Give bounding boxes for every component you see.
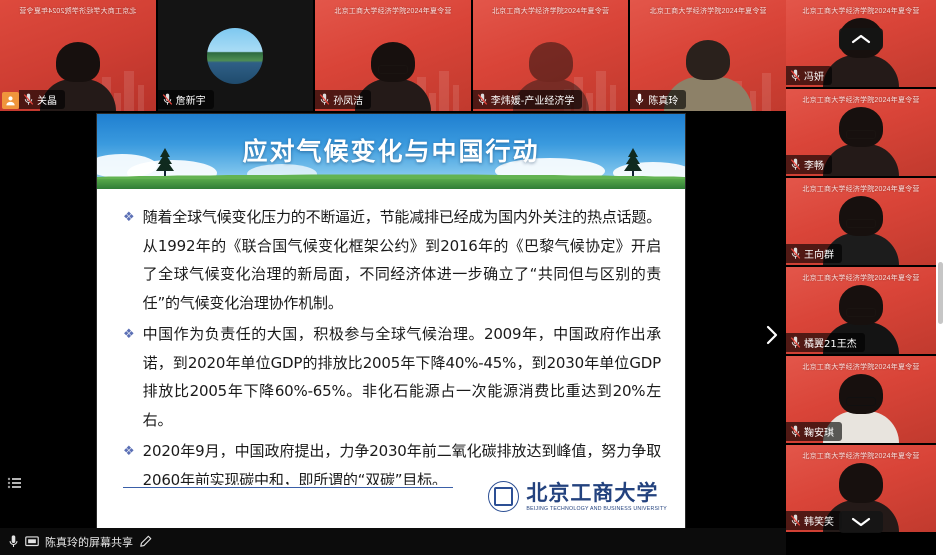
tile-banner-text: 北京工商大学经济学院2024年夏令营	[786, 451, 936, 461]
tile-banner-text: 北京工商大学经济学院2024年夏令营	[786, 184, 936, 194]
shared-screen-slide[interactable]: 应对气候变化与中国行动 ❖ 随着全球气候变化压力的不断逼近，节能减排已经成为国内…	[96, 113, 686, 532]
mic-icon	[634, 93, 645, 106]
participant-tile-0[interactable]: 北京工商大学经济学院2024年夏令营 关晶	[0, 0, 156, 111]
scroll-up-button[interactable]	[839, 28, 883, 50]
microphone-icon[interactable]	[8, 534, 19, 549]
screen-share-icon[interactable]	[25, 536, 39, 548]
tile-banner-text: 北京工商大学经济学院2024年夏令营	[630, 6, 786, 16]
participant-name-chip-4: 陈真玲	[630, 90, 686, 109]
participant-name-chip: 橘翼21王杰	[786, 333, 865, 352]
sidebar-participant-2[interactable]: 北京工商大学经济学院2024年夏令营 王向群	[786, 178, 936, 265]
pencil-annotate-icon[interactable]	[139, 535, 152, 548]
participant-silhouette	[823, 110, 899, 176]
participants-list-button[interactable]	[4, 472, 26, 494]
screen-share-status-bar: 陈真玲的屏幕共享	[0, 528, 786, 555]
participant-name-chip: 冯妍	[786, 66, 832, 85]
sidebar-participant-1[interactable]: 北京工商大学经济学院2024年夏令营 李畅	[786, 89, 936, 176]
tile-banner-text: 北京工商大学经济学院2024年夏令营	[0, 6, 156, 16]
footer-divider	[123, 487, 453, 488]
mic-muted-icon	[790, 247, 801, 260]
bullet-marker-icon: ❖	[123, 320, 135, 434]
participant-name: 王向群	[804, 246, 834, 261]
tile-banner-text: 北京工商大学经济学院2024年夏令营	[786, 6, 936, 16]
bullet-marker-icon: ❖	[123, 203, 135, 317]
tile-banner-text: 北京工商大学经济学院2024年夏令营	[786, 273, 936, 283]
host-badge	[2, 92, 19, 109]
mic-muted-icon	[319, 93, 330, 106]
participant-name: 关晶	[37, 92, 57, 107]
slide-footer: 北京工商大学 BEIJING TECHNOLOGY AND BUSINESS U…	[97, 485, 685, 531]
slide-bullet-0: ❖ 随着全球气候变化压力的不断逼近，节能减排已经成为国内外关注的热点话题。从19…	[123, 203, 661, 317]
participants-sidebar[interactable]: 北京工商大学经济学院2024年夏令营 冯妍 北京工商大学经济学院2024年夏令营…	[786, 0, 936, 555]
chevron-up-icon	[851, 33, 871, 45]
participant-name: 李畅	[804, 157, 824, 172]
chevron-down-icon	[851, 516, 871, 528]
slide-body: ❖ 随着全球气候变化压力的不断逼近，节能减排已经成为国内外关注的热点话题。从19…	[97, 189, 685, 485]
participant-thumbnail-strip: 北京工商大学经济学院2024年夏令营 关晶 詹新宇	[0, 0, 786, 111]
participant-name-chip: 李畅	[786, 155, 832, 174]
tile-banner-text: 北京工商大学经济学院2024年夏令营	[786, 362, 936, 372]
sidebar-scrollbar-track[interactable]	[936, 0, 944, 555]
mic-muted-icon	[162, 93, 173, 106]
bullet-text: 中国作为负责任的大国，积极参与全球气候治理。2009年，中国政府作出承诺，到20…	[143, 320, 661, 434]
avatar	[207, 28, 263, 84]
participant-name: 橘翼21王杰	[804, 335, 857, 350]
slide-bullet-1: ❖ 中国作为负责任的大国，积极参与全球气候治理。2009年，中国政府作出承诺，到…	[123, 320, 661, 434]
logo-text-cn: 北京工商大学	[526, 482, 667, 503]
mic-muted-icon	[790, 425, 801, 438]
scroll-down-button[interactable]	[839, 511, 883, 533]
participant-name-chip: 王向群	[786, 244, 842, 263]
video-conference-window: 北京工商大学经济学院2024年夏令营 关晶 詹新宇	[0, 0, 944, 555]
university-logo: 北京工商大学 BEIJING TECHNOLOGY AND BUSINESS U…	[488, 481, 667, 512]
mic-muted-icon	[477, 93, 488, 106]
next-page-button[interactable]	[760, 320, 784, 350]
logo-text-en: BEIJING TECHNOLOGY AND BUSINESS UNIVERSI…	[526, 506, 667, 512]
participant-name: 李炜媛-产业经济学	[491, 92, 575, 107]
tile-banner-text: 北京工商大学经济学院2024年夏令营	[786, 95, 936, 105]
mic-muted-icon	[790, 158, 801, 171]
mic-muted-icon	[23, 93, 34, 106]
mic-muted-icon	[790, 336, 801, 349]
participant-tile-2[interactable]: 北京工商大学经济学院2024年夏令营 孙凤洁	[315, 0, 471, 111]
participant-name: 陈真玲	[648, 92, 678, 107]
mic-muted-icon	[790, 514, 801, 527]
participant-name-chip-3: 李炜媛-产业经济学	[473, 90, 583, 109]
sidebar-participant-4[interactable]: 北京工商大学经济学院2024年夏令营 鞠安琪	[786, 356, 936, 443]
grass-line	[97, 179, 685, 189]
tile-banner-text: 北京工商大学经济学院2024年夏令营	[473, 6, 629, 16]
stage-background-left	[0, 111, 96, 532]
bullet-text: 随着全球气候变化压力的不断逼近，节能减排已经成为国内外关注的热点话题。从1992…	[143, 203, 661, 317]
participant-name: 詹新宇	[176, 92, 206, 107]
screen-share-label: 陈真玲的屏幕共享	[45, 534, 133, 550]
list-menu-icon	[7, 475, 23, 491]
participant-name: 韩笑笑	[804, 513, 834, 528]
participant-tile-4-active-speaker[interactable]: 北京工商大学经济学院2024年夏令营 陈真玲	[630, 0, 786, 111]
slide-header-banner: 应对气候变化与中国行动	[97, 114, 685, 189]
chevron-right-icon	[765, 325, 779, 345]
participant-name-chip-1: 詹新宇	[158, 90, 214, 109]
participant-name-chip: 鞠安琪	[786, 422, 842, 441]
participant-name: 冯妍	[804, 68, 824, 83]
mic-muted-icon	[790, 69, 801, 82]
sidebar-participant-3[interactable]: 北京工商大学经济学院2024年夏令营 橘翼21王杰	[786, 267, 936, 354]
participant-tile-3[interactable]: 北京工商大学经济学院2024年夏令营 李炜媛-产业经济学	[473, 0, 629, 111]
sidebar-scrollbar-thumb[interactable]	[938, 262, 943, 324]
tile-banner-text: 北京工商大学经济学院2024年夏令营	[315, 6, 471, 16]
university-seal-icon	[488, 481, 519, 512]
participant-name: 鞠安琪	[804, 424, 834, 439]
participant-name: 孙凤洁	[333, 92, 363, 107]
participant-tile-1[interactable]: 詹新宇	[158, 0, 314, 111]
participant-name-chip-0: 关晶	[19, 90, 65, 109]
participant-name-chip-2: 孙凤洁	[315, 90, 371, 109]
slide-title: 应对气候变化与中国行动	[97, 132, 685, 168]
participant-name-chip: 韩笑笑	[786, 511, 842, 530]
